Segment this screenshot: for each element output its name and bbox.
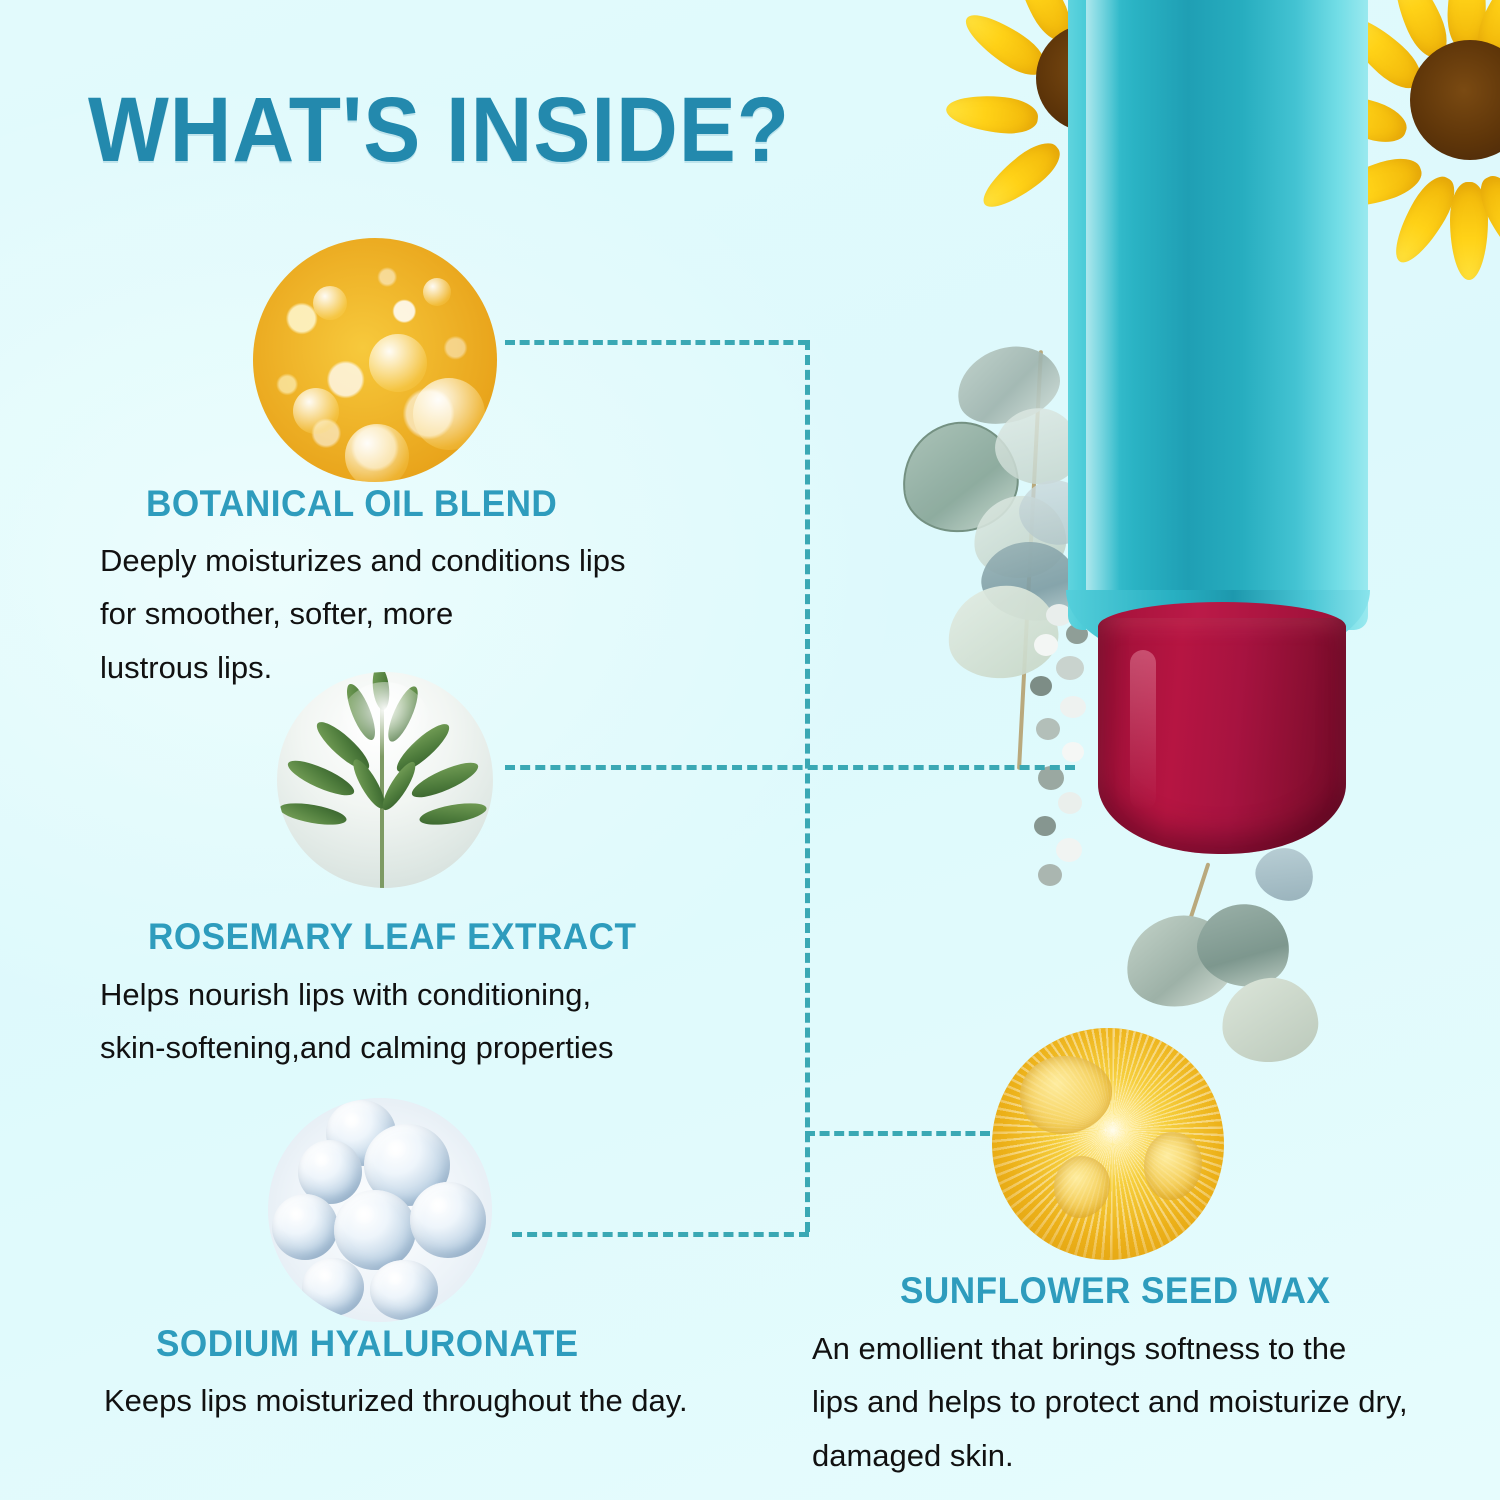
water-bubbles-circle-image — [268, 1098, 492, 1322]
oil-bubble — [345, 424, 409, 482]
amber-wax-sphere-circle-image — [992, 1028, 1224, 1260]
connector-line-hyaluronate — [512, 1232, 809, 1237]
sunflower-center — [1410, 40, 1500, 160]
water-bubble — [334, 1190, 416, 1270]
gypsophila-floret — [1034, 816, 1056, 836]
oil-bubble — [423, 278, 451, 306]
gypsophila-floret — [1034, 634, 1058, 656]
eucalyptus-leaf — [1219, 975, 1321, 1065]
oil-bubble — [369, 334, 427, 392]
connector-line-vertical — [805, 340, 810, 1232]
tube-highlight — [1086, 0, 1120, 630]
ingredient-description-rosemary-leaf-extract: Helps nourish lips with conditioning, sk… — [100, 968, 760, 1075]
water-bubble — [272, 1194, 338, 1260]
description-line: Deeply moisturizes and conditions lips — [100, 534, 740, 587]
description-line: Keeps lips moisturized throughout the da… — [104, 1374, 804, 1427]
description-line: lips and helps to protect and moisturize… — [812, 1375, 1472, 1428]
description-line: damaged skin. — [812, 1429, 1472, 1482]
rosemary-sprig-circle-image — [277, 672, 493, 888]
description-line: for smoother, softer, more — [100, 587, 740, 640]
water-bubble — [410, 1182, 486, 1258]
gypsophila-floret — [1030, 676, 1052, 696]
ingredient-title-sodium-hyaluronate: SODIUM HYALURONATE — [156, 1323, 579, 1365]
ingredient-title-sunflower-seed-wax: SUNFLOWER SEED WAX — [900, 1270, 1330, 1312]
ingredient-description-botanical-oil-blend: Deeply moisturizes and conditions lips f… — [100, 534, 740, 694]
description-line: skin-softening,and calming properties — [100, 1021, 760, 1074]
lip-balm-tube — [1068, 0, 1368, 870]
balm-highlight — [1130, 650, 1156, 810]
connector-line-wax — [805, 1131, 990, 1136]
rosemary-sprig-illustration — [277, 672, 493, 888]
water-bubble — [302, 1258, 364, 1316]
description-line: An emollient that brings softness to the — [812, 1322, 1472, 1375]
oil-bubble — [413, 378, 485, 450]
ingredient-description-sunflower-seed-wax: An emollient that brings softness to the… — [812, 1322, 1472, 1482]
sunflower-petal — [974, 134, 1067, 217]
ingredient-title-rosemary-leaf-extract: ROSEMARY LEAF EXTRACT — [148, 916, 636, 958]
ingredient-title-botanical-oil-blend: BOTANICAL OIL BLEND — [146, 483, 557, 525]
infographic-canvas: WHAT'S INSIDE? BOTANICAL OIL BLEND Deepl… — [0, 0, 1500, 1500]
ingredient-description-sodium-hyaluronate: Keeps lips moisturized throughout the da… — [104, 1374, 804, 1427]
page-title: WHAT'S INSIDE? — [88, 78, 790, 183]
sunflower-petal — [944, 91, 1039, 136]
gypsophila-floret — [1036, 718, 1060, 740]
oil-droplet-circle-image — [253, 238, 497, 482]
water-bubble — [370, 1260, 438, 1320]
connector-line-rosemary — [505, 765, 1075, 770]
oil-bubble — [313, 286, 347, 320]
description-line: Helps nourish lips with conditioning, — [100, 968, 760, 1021]
connector-line-oil — [505, 340, 808, 345]
gypsophila-floret — [1038, 864, 1062, 886]
oil-bubble — [293, 388, 339, 434]
